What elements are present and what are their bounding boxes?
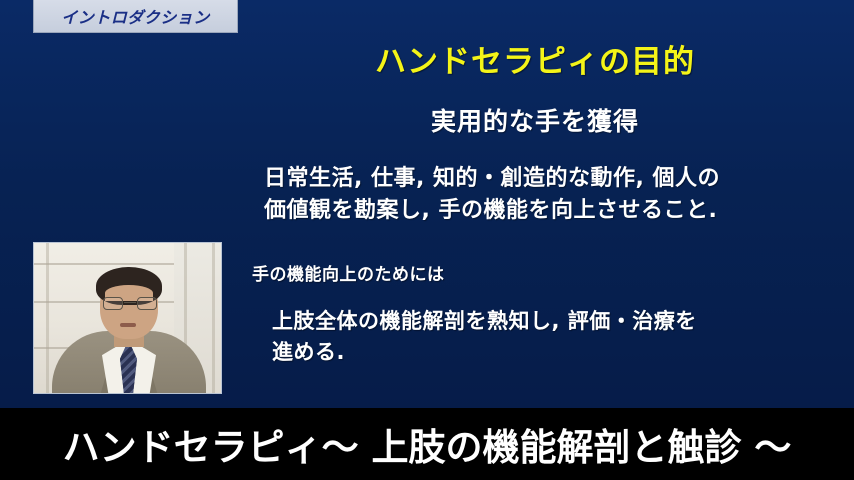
body-paragraph: 日常生活, 仕事, 知的・創造的な動作, 個人の 価値観を勘案し, 手の機能を向…	[264, 163, 809, 227]
chapter-tab-label: イントロダクション	[61, 4, 210, 28]
sub-heading: 手の機能向上のためには	[252, 260, 445, 285]
video-scene-background	[34, 243, 221, 393]
body-paragraph-line: 価値観を勘案し, 手の機能を向上させること.	[264, 195, 809, 227]
bottom-banner-text: ハンドセラピィ〜 上肢の機能解剖と触診 〜	[63, 417, 792, 471]
slide-subtitle: 実用的な手を獲得	[250, 102, 820, 138]
shelf-post	[46, 243, 49, 393]
glasses-lens-left	[103, 297, 123, 310]
body-paragraph-2: 上肢全体の機能解剖を熟知し, 評価・治療を 進める.	[272, 306, 812, 368]
body-paragraph-2-line: 上肢全体の機能解剖を熟知し, 評価・治療を	[272, 306, 812, 337]
body-paragraph-2-line: 進める.	[272, 337, 812, 368]
glasses-bridge	[124, 302, 136, 303]
presenter-glasses-icon	[102, 297, 158, 310]
chapter-tab[interactable]: イントロダクション	[33, 0, 238, 33]
slide-title: ハンドセラピィの目的	[250, 36, 820, 81]
shelf-post	[212, 243, 215, 393]
lecture-slide-screenshot: イントロダクション ハンドセラピィの目的 実用的な手を獲得 日常生活, 仕事, …	[0, 0, 854, 480]
presenter-video-inset[interactable]	[33, 242, 222, 394]
presenter-mouth	[120, 323, 136, 327]
body-paragraph-line: 日常生活, 仕事, 知的・創造的な動作, 個人の	[264, 163, 809, 195]
bottom-title-banner: ハンドセラピィ〜 上肢の機能解剖と触診 〜	[0, 408, 854, 480]
glasses-lens-right	[137, 297, 157, 310]
